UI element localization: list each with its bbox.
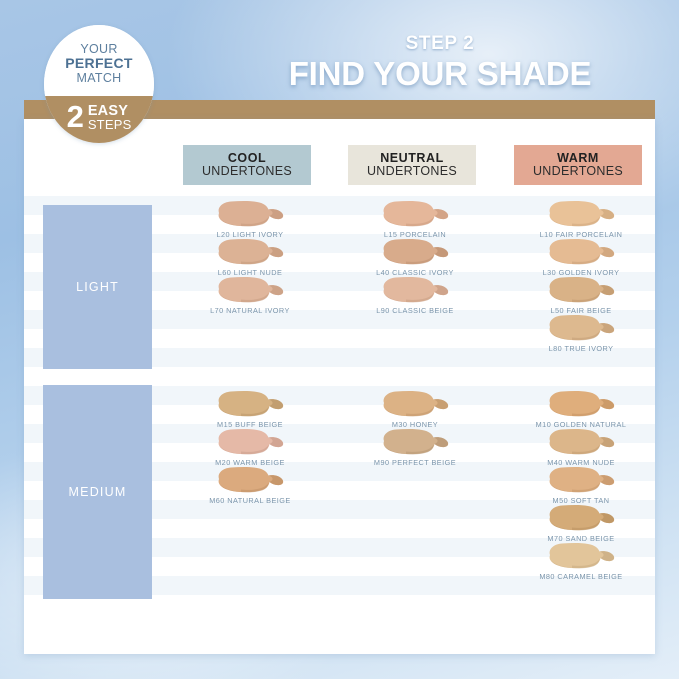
shade-cell[interactable]: M60 NATURAL BEIGE bbox=[175, 465, 325, 505]
column-header-neutral-sub: UNDERTONES bbox=[367, 165, 457, 179]
step-label: STEP 2 bbox=[250, 33, 630, 55]
page-title: FIND YOUR SHADE bbox=[230, 55, 650, 93]
foundation-swatch-icon bbox=[542, 427, 620, 457]
shade-cell[interactable]: L90 CLASSIC BEIGE bbox=[340, 275, 490, 315]
column-header-cool-title: COOL bbox=[228, 152, 266, 166]
shade-cell[interactable]: L60 LIGHT NUDE bbox=[175, 237, 325, 277]
foundation-swatch-icon bbox=[211, 199, 289, 229]
shade-cell[interactable]: M80 CARAMEL BEIGE bbox=[506, 541, 656, 581]
shade-label: M80 CARAMEL BEIGE bbox=[506, 572, 656, 581]
shade-cell[interactable]: M40 WARM NUDE bbox=[506, 427, 656, 467]
column-header-cool[interactable]: COOL UNDERTONES bbox=[183, 145, 311, 185]
shade-cell[interactable]: M90 PERFECT BEIGE bbox=[340, 427, 490, 467]
badge-top-half: YOUR PERFECT MATCH bbox=[44, 25, 154, 96]
foundation-swatch-icon bbox=[542, 275, 620, 305]
shade-label: M90 PERFECT BEIGE bbox=[340, 458, 490, 467]
foundation-swatch-icon bbox=[211, 465, 289, 495]
foundation-swatch-icon bbox=[376, 237, 454, 267]
shade-cell[interactable]: M50 SOFT TAN bbox=[506, 465, 656, 505]
badge-bottom-half: 2 EASY STEPS bbox=[44, 96, 154, 143]
badge-line-perfect: PERFECT bbox=[65, 56, 132, 72]
foundation-swatch-icon bbox=[211, 389, 289, 419]
shade-cell[interactable]: L70 NATURAL IVORY bbox=[175, 275, 325, 315]
shade-cell[interactable]: M20 WARM BEIGE bbox=[175, 427, 325, 467]
foundation-swatch-icon bbox=[376, 199, 454, 229]
shade-cell[interactable]: L20 LIGHT IVORY bbox=[175, 199, 325, 239]
shade-label: M60 NATURAL BEIGE bbox=[175, 496, 325, 505]
foundation-swatch-icon bbox=[376, 275, 454, 305]
shade-cell[interactable]: M70 SAND BEIGE bbox=[506, 503, 656, 543]
shade-label: L70 NATURAL IVORY bbox=[175, 306, 325, 315]
foundation-swatch-icon bbox=[376, 427, 454, 457]
foundation-swatch-icon bbox=[542, 503, 620, 533]
foundation-swatch-icon bbox=[376, 389, 454, 419]
foundation-swatch-icon bbox=[542, 465, 620, 495]
shade-label: L80 TRUE IVORY bbox=[506, 344, 656, 353]
shade-cell[interactable]: L30 GOLDEN IVORY bbox=[506, 237, 656, 277]
foundation-swatch-icon bbox=[211, 427, 289, 457]
shade-cell[interactable]: L15 PORCELAIN bbox=[340, 199, 490, 239]
badge-step-count: 2 bbox=[67, 104, 84, 130]
column-header-warm[interactable]: WARM UNDERTONES bbox=[514, 145, 642, 185]
shade-cell[interactable]: L50 FAIR BEIGE bbox=[506, 275, 656, 315]
badge-line-your: YOUR bbox=[80, 42, 117, 56]
shade-cell[interactable]: M10 GOLDEN NATURAL bbox=[506, 389, 656, 429]
foundation-swatch-icon bbox=[542, 541, 620, 571]
foundation-swatch-icon bbox=[211, 237, 289, 267]
badge-steps-text: EASY STEPS bbox=[88, 104, 132, 132]
column-header-neutral-title: NEUTRAL bbox=[380, 152, 444, 166]
category-label-medium: MEDIUM bbox=[69, 485, 127, 499]
shade-cell[interactable]: L10 FAIR PORCELAIN bbox=[506, 199, 656, 239]
foundation-swatch-icon bbox=[211, 275, 289, 305]
category-block-light: LIGHT bbox=[43, 205, 152, 369]
shade-cell[interactable]: M15 BUFF BEIGE bbox=[175, 389, 325, 429]
category-block-medium: MEDIUM bbox=[43, 385, 152, 599]
row-stripe bbox=[24, 367, 655, 386]
column-header-cool-sub: UNDERTONES bbox=[202, 165, 292, 179]
shade-cell[interactable]: M30 HONEY bbox=[340, 389, 490, 429]
foundation-swatch-icon bbox=[542, 199, 620, 229]
column-header-warm-sub: UNDERTONES bbox=[533, 165, 623, 179]
perfect-match-badge: YOUR PERFECT MATCH 2 EASY STEPS bbox=[44, 25, 154, 143]
badge-steps-label: STEPS bbox=[88, 118, 132, 131]
badge-easy-label: EASY bbox=[88, 104, 132, 119]
shade-cell[interactable]: L40 CLASSIC IVORY bbox=[340, 237, 490, 277]
category-label-light: LIGHT bbox=[76, 280, 119, 294]
shade-cell[interactable]: L80 TRUE IVORY bbox=[506, 313, 656, 353]
foundation-swatch-icon bbox=[542, 237, 620, 267]
shade-label: L90 CLASSIC BEIGE bbox=[340, 306, 490, 315]
column-header-warm-title: WARM bbox=[557, 152, 599, 166]
foundation-swatch-icon bbox=[542, 313, 620, 343]
badge-line-match: MATCH bbox=[76, 71, 121, 85]
foundation-swatch-icon bbox=[542, 389, 620, 419]
column-header-neutral[interactable]: NEUTRAL UNDERTONES bbox=[348, 145, 476, 185]
